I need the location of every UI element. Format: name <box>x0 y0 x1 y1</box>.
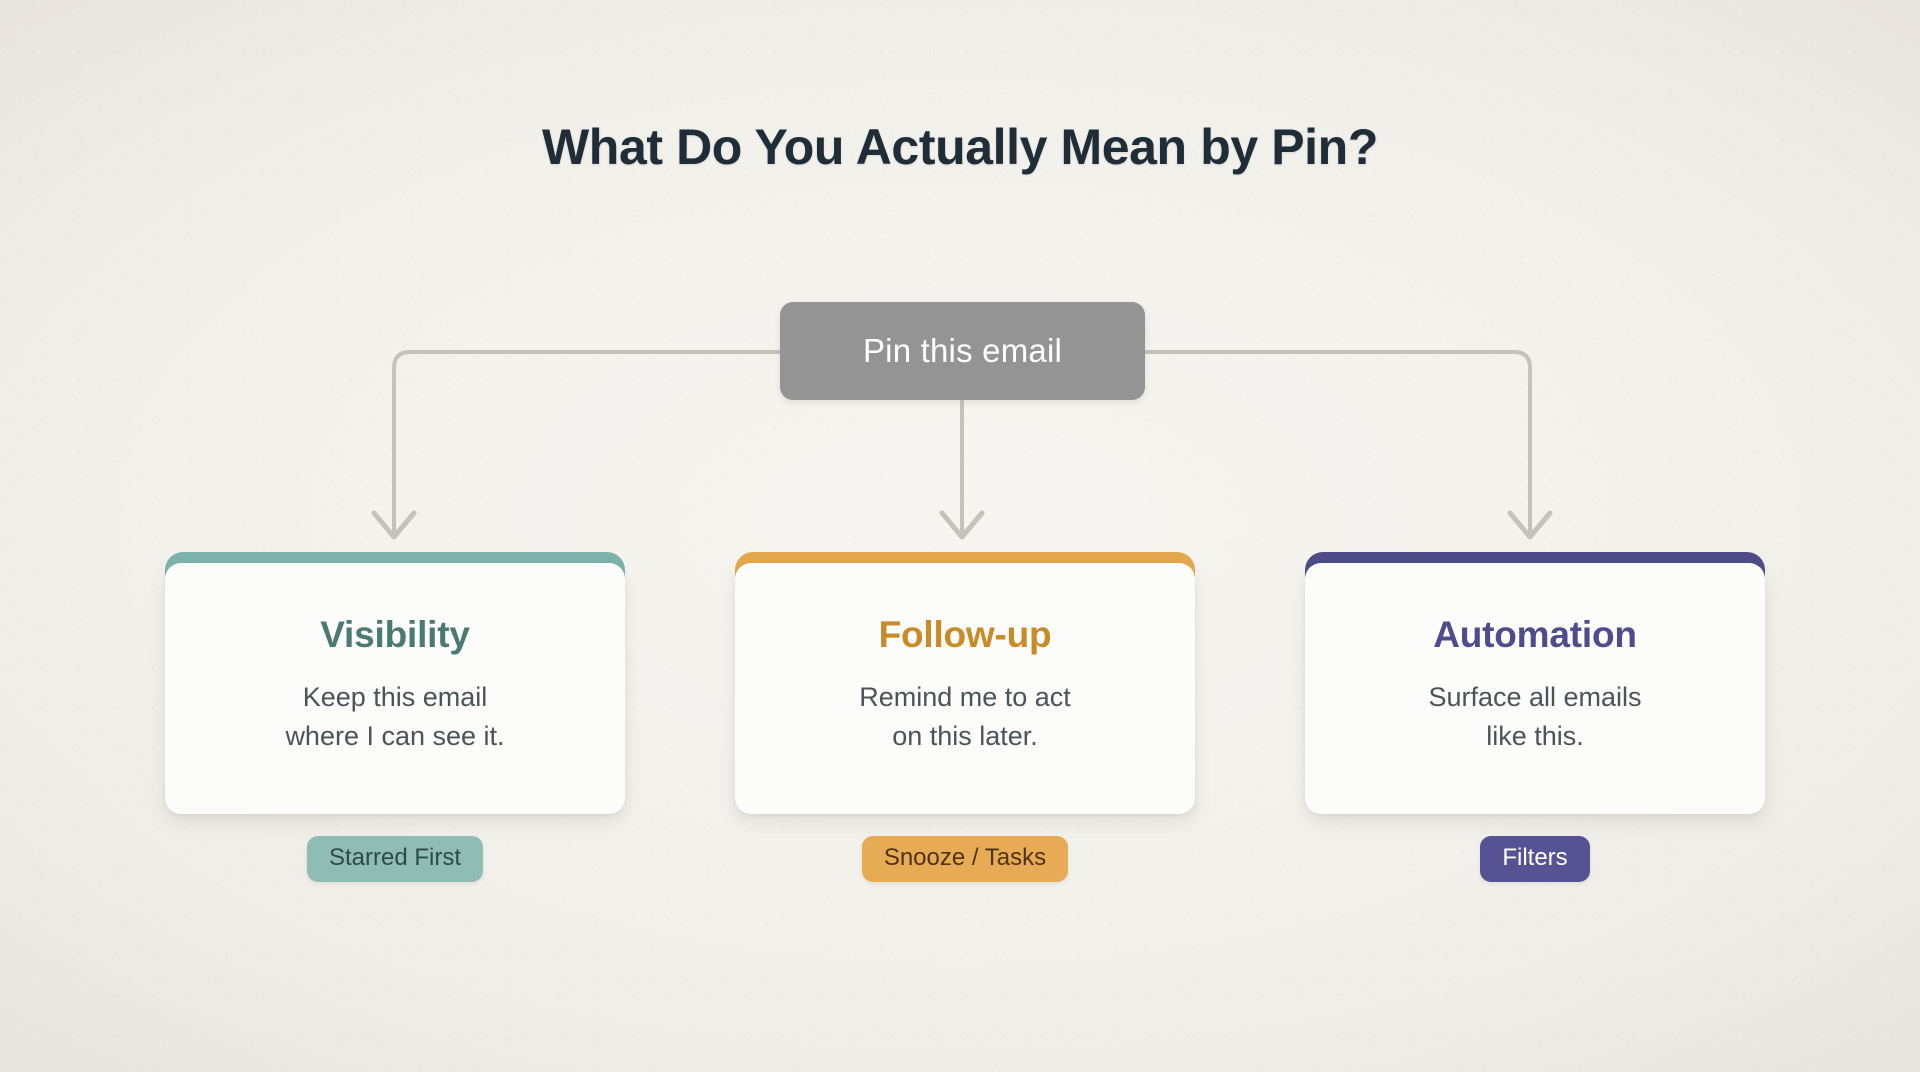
card-body-line-1: Keep this email <box>285 678 504 716</box>
badge-snooze-tasks[interactable]: Snooze / Tasks <box>862 836 1068 882</box>
card-body-line-2: on this later. <box>859 717 1071 755</box>
card-follow-up[interactable]: Follow-up Remind me to act on this later… <box>735 563 1195 814</box>
branch-column-automation: Automation Surface all emails like this. <box>1305 552 1765 814</box>
arrowhead-right <box>1510 513 1550 537</box>
connector-right <box>1145 352 1530 534</box>
card-automation[interactable]: Automation Surface all emails like this. <box>1305 563 1765 814</box>
card-title-automation: Automation <box>1433 614 1637 656</box>
card-body-line-1: Remind me to act <box>859 678 1071 716</box>
badge-row-automation: Filters <box>1305 836 1765 882</box>
card-body-automation: Surface all emails like this. <box>1428 678 1641 755</box>
arrowhead-left <box>374 513 414 537</box>
card-body-line-2: where I can see it. <box>285 717 504 755</box>
branch-column-visibility: Visibility Keep this email where I can s… <box>165 552 625 814</box>
arrowhead-middle <box>942 513 982 537</box>
root-node-label: Pin this email <box>863 332 1062 370</box>
badge-starred-first[interactable]: Starred First <box>307 836 483 882</box>
page-title: What Do You Actually Mean by Pin? <box>0 118 1920 176</box>
card-visibility[interactable]: Visibility Keep this email where I can s… <box>165 563 625 814</box>
connector-left <box>394 352 780 534</box>
diagram-canvas: What Do You Actually Mean by Pin? Pin th… <box>0 0 1920 1072</box>
badge-row-follow-up: Snooze / Tasks <box>735 836 1195 882</box>
card-body-line-2: like this. <box>1428 717 1641 755</box>
root-node-pin-this-email[interactable]: Pin this email <box>780 302 1145 400</box>
card-body-line-1: Surface all emails <box>1428 678 1641 716</box>
card-body-visibility: Keep this email where I can see it. <box>285 678 504 755</box>
branch-column-follow-up: Follow-up Remind me to act on this later… <box>735 552 1195 814</box>
card-body-follow-up: Remind me to act on this later. <box>859 678 1071 755</box>
card-title-follow-up: Follow-up <box>879 614 1052 656</box>
badge-row-visibility: Starred First <box>165 836 625 882</box>
card-title-visibility: Visibility <box>320 614 470 656</box>
badge-filters[interactable]: Filters <box>1480 836 1589 882</box>
